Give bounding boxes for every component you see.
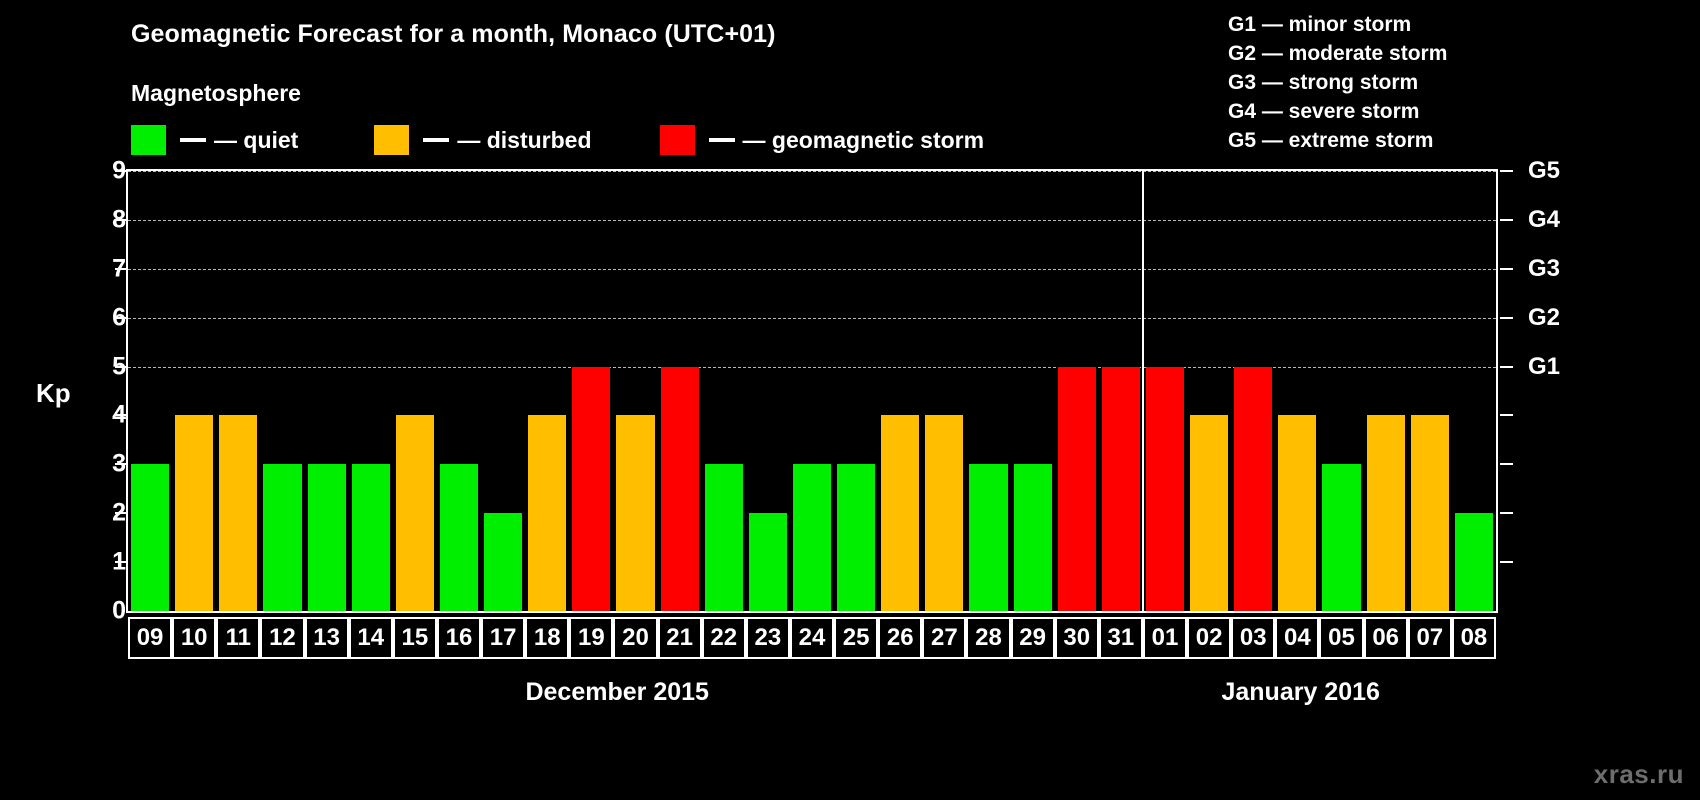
day-label-23[interactable]: 23 bbox=[746, 617, 790, 659]
y-tick-mark-6 bbox=[115, 317, 126, 319]
g-tick-mark-g1 bbox=[1500, 366, 1513, 368]
bar-column bbox=[702, 171, 746, 611]
day-label-28[interactable]: 28 bbox=[966, 617, 1010, 659]
g-scale-row-g4: G4 — severe storm bbox=[1228, 97, 1447, 126]
red-square-icon bbox=[660, 125, 695, 155]
bar-column bbox=[437, 171, 481, 611]
bar-column bbox=[525, 171, 569, 611]
month-label-december: December 2015 bbox=[525, 678, 708, 707]
bar-column bbox=[1364, 171, 1408, 611]
bar-column bbox=[966, 171, 1010, 611]
day-label-24[interactable]: 24 bbox=[790, 617, 834, 659]
y-axis-ticks: 0123456789 bbox=[0, 169, 126, 613]
bar-06[interactable] bbox=[1367, 415, 1405, 611]
g-tick-mark-g4 bbox=[1500, 219, 1513, 221]
bar-column bbox=[1452, 171, 1496, 611]
day-label-15[interactable]: 15 bbox=[393, 617, 437, 659]
bar-column bbox=[922, 171, 966, 611]
bar-19[interactable] bbox=[572, 367, 610, 611]
watermark: xras.ru bbox=[1594, 759, 1684, 790]
bar-07[interactable] bbox=[1411, 415, 1449, 611]
g-scale-row-g2: G2 — moderate storm bbox=[1228, 39, 1447, 68]
bar-13[interactable] bbox=[308, 464, 346, 611]
bar-column bbox=[613, 171, 657, 611]
bar-28[interactable] bbox=[969, 464, 1007, 611]
bar-29[interactable] bbox=[1014, 464, 1052, 611]
g-tick-mark-g5 bbox=[1500, 170, 1513, 172]
bar-column bbox=[1319, 171, 1363, 611]
bar-column bbox=[216, 171, 260, 611]
g-axis-label-g3: G3 bbox=[1528, 255, 1560, 283]
day-label-10[interactable]: 10 bbox=[172, 617, 216, 659]
bar-column bbox=[569, 171, 613, 611]
bar-17[interactable] bbox=[484, 513, 522, 611]
legend-item-quiet: — quiet bbox=[131, 125, 298, 155]
bar-14[interactable] bbox=[352, 464, 390, 611]
day-label-27[interactable]: 27 bbox=[922, 617, 966, 659]
month-label-january: January 2016 bbox=[1221, 678, 1379, 707]
bar-column bbox=[878, 171, 922, 611]
day-label-29[interactable]: 29 bbox=[1011, 617, 1055, 659]
bar-31[interactable] bbox=[1102, 367, 1140, 611]
day-label-04[interactable]: 04 bbox=[1275, 617, 1319, 659]
bar-24[interactable] bbox=[793, 464, 831, 611]
bar-column bbox=[658, 171, 702, 611]
bar-18[interactable] bbox=[528, 415, 566, 611]
legend-item-disturbed: — disturbed bbox=[374, 125, 591, 155]
bar-30[interactable] bbox=[1058, 367, 1096, 611]
g-tick-mark-g2 bbox=[1500, 317, 1513, 319]
day-label-08[interactable]: 08 bbox=[1452, 617, 1496, 659]
day-label-09[interactable]: 09 bbox=[128, 617, 172, 659]
bar-01[interactable] bbox=[1146, 367, 1184, 611]
g-axis-label-g4: G4 bbox=[1528, 206, 1560, 234]
day-label-30[interactable]: 30 bbox=[1055, 617, 1099, 659]
legend-dash bbox=[709, 138, 735, 142]
legend-label-quiet: — quiet bbox=[214, 127, 298, 154]
legend-label-disturbed: — disturbed bbox=[457, 127, 591, 154]
y-tick-mark-7 bbox=[115, 268, 126, 270]
y-tick-mark-9 bbox=[115, 170, 126, 172]
g-axis-label-g2: G2 bbox=[1528, 304, 1560, 332]
g-scale-row-g1: G1 — minor storm bbox=[1228, 10, 1447, 39]
bar-09[interactable] bbox=[131, 464, 169, 611]
magnetosphere-label: Magnetosphere bbox=[131, 80, 301, 107]
bar-column bbox=[1231, 171, 1275, 611]
bar-05[interactable] bbox=[1322, 464, 1360, 611]
y-tick-mark-3 bbox=[115, 463, 126, 465]
orange-square-icon bbox=[374, 125, 409, 155]
bar-column bbox=[834, 171, 878, 611]
day-label-02[interactable]: 02 bbox=[1187, 617, 1231, 659]
day-label-07[interactable]: 07 bbox=[1408, 617, 1452, 659]
legend-dash bbox=[423, 138, 449, 142]
day-label-13[interactable]: 13 bbox=[305, 617, 349, 659]
bar-column bbox=[1275, 171, 1319, 611]
bar-column bbox=[481, 171, 525, 611]
bar-10[interactable] bbox=[175, 415, 213, 611]
bar-column bbox=[1099, 171, 1143, 611]
legend-item-storm: — geomagnetic storm bbox=[660, 125, 985, 155]
bar-15[interactable] bbox=[396, 415, 434, 611]
y-tick-mark-4 bbox=[115, 414, 126, 416]
bar-column bbox=[393, 171, 437, 611]
day-label-row: 0910111213141516171819202122232425262728… bbox=[126, 617, 1498, 659]
legend-label-storm: — geomagnetic storm bbox=[743, 127, 985, 154]
page-title: Geomagnetic Forecast for a month, Monaco… bbox=[131, 20, 776, 49]
green-square-icon bbox=[131, 125, 166, 155]
bar-column bbox=[128, 171, 172, 611]
day-label-01[interactable]: 01 bbox=[1143, 617, 1187, 659]
g-scale-legend: G1 — minor storm G2 — moderate storm G3 … bbox=[1228, 10, 1447, 155]
y-tick-mark-1 bbox=[115, 561, 126, 563]
bar-column bbox=[260, 171, 304, 611]
day-label-12[interactable]: 12 bbox=[260, 617, 304, 659]
day-label-25[interactable]: 25 bbox=[834, 617, 878, 659]
bar-column bbox=[1187, 171, 1231, 611]
day-label-14[interactable]: 14 bbox=[349, 617, 393, 659]
bar-22[interactable] bbox=[705, 464, 743, 611]
right-tick-mark-kp-1 bbox=[1500, 561, 1513, 563]
y-tick-mark-8 bbox=[115, 219, 126, 221]
legend: — quiet — disturbed — geomagnetic storm bbox=[131, 125, 984, 155]
bar-column bbox=[1408, 171, 1452, 611]
day-label-20[interactable]: 20 bbox=[613, 617, 657, 659]
bar-column bbox=[1143, 171, 1187, 611]
bar-column bbox=[790, 171, 834, 611]
day-label-26[interactable]: 26 bbox=[878, 617, 922, 659]
chart-root: Geomagnetic Forecast for a month, Monaco… bbox=[0, 0, 1700, 800]
bar-08[interactable] bbox=[1455, 513, 1493, 611]
right-tick-mark-kp-3 bbox=[1500, 463, 1513, 465]
bar-04[interactable] bbox=[1278, 415, 1316, 611]
bar-column bbox=[305, 171, 349, 611]
g-scale-row-g5: G5 — extreme storm bbox=[1228, 126, 1447, 155]
g-axis-label-g1: G1 bbox=[1528, 353, 1560, 381]
bar-23[interactable] bbox=[749, 513, 787, 611]
bar-26[interactable] bbox=[881, 415, 919, 611]
bar-column bbox=[349, 171, 393, 611]
day-label-22[interactable]: 22 bbox=[702, 617, 746, 659]
bar-03[interactable] bbox=[1234, 367, 1272, 611]
day-label-19[interactable]: 19 bbox=[569, 617, 613, 659]
bar-column bbox=[1055, 171, 1099, 611]
bar-column bbox=[1011, 171, 1055, 611]
g-scale-row-g3: G3 — strong storm bbox=[1228, 68, 1447, 97]
day-label-03[interactable]: 03 bbox=[1231, 617, 1275, 659]
bar-21[interactable] bbox=[661, 367, 699, 611]
bar-02[interactable] bbox=[1190, 415, 1228, 611]
day-label-05[interactable]: 05 bbox=[1319, 617, 1363, 659]
day-label-11[interactable]: 11 bbox=[216, 617, 260, 659]
bar-11[interactable] bbox=[219, 415, 257, 611]
y-tick-label-0: 0 bbox=[62, 597, 126, 626]
bar-27[interactable] bbox=[925, 415, 963, 611]
y-tick-mark-5 bbox=[115, 366, 126, 368]
bar-column bbox=[172, 171, 216, 611]
y-tick-mark-2 bbox=[115, 512, 126, 514]
day-label-31[interactable]: 31 bbox=[1099, 617, 1143, 659]
day-label-16[interactable]: 16 bbox=[437, 617, 481, 659]
g-axis-labels: G1G2G3G4G5 bbox=[1498, 169, 1618, 613]
g-tick-mark-g3 bbox=[1500, 268, 1513, 270]
right-tick-mark-kp-4 bbox=[1500, 414, 1513, 416]
bar-20[interactable] bbox=[616, 415, 654, 611]
day-label-06[interactable]: 06 bbox=[1364, 617, 1408, 659]
g-axis-label-g5: G5 bbox=[1528, 157, 1560, 185]
legend-dash bbox=[180, 138, 206, 142]
day-label-18[interactable]: 18 bbox=[525, 617, 569, 659]
day-label-21[interactable]: 21 bbox=[658, 617, 702, 659]
bar-series bbox=[128, 171, 1496, 611]
right-tick-mark-kp-2 bbox=[1500, 512, 1513, 514]
bar-25[interactable] bbox=[837, 464, 875, 611]
bar-column bbox=[746, 171, 790, 611]
day-label-17[interactable]: 17 bbox=[481, 617, 525, 659]
bar-12[interactable] bbox=[263, 464, 301, 611]
bar-16[interactable] bbox=[440, 464, 478, 611]
